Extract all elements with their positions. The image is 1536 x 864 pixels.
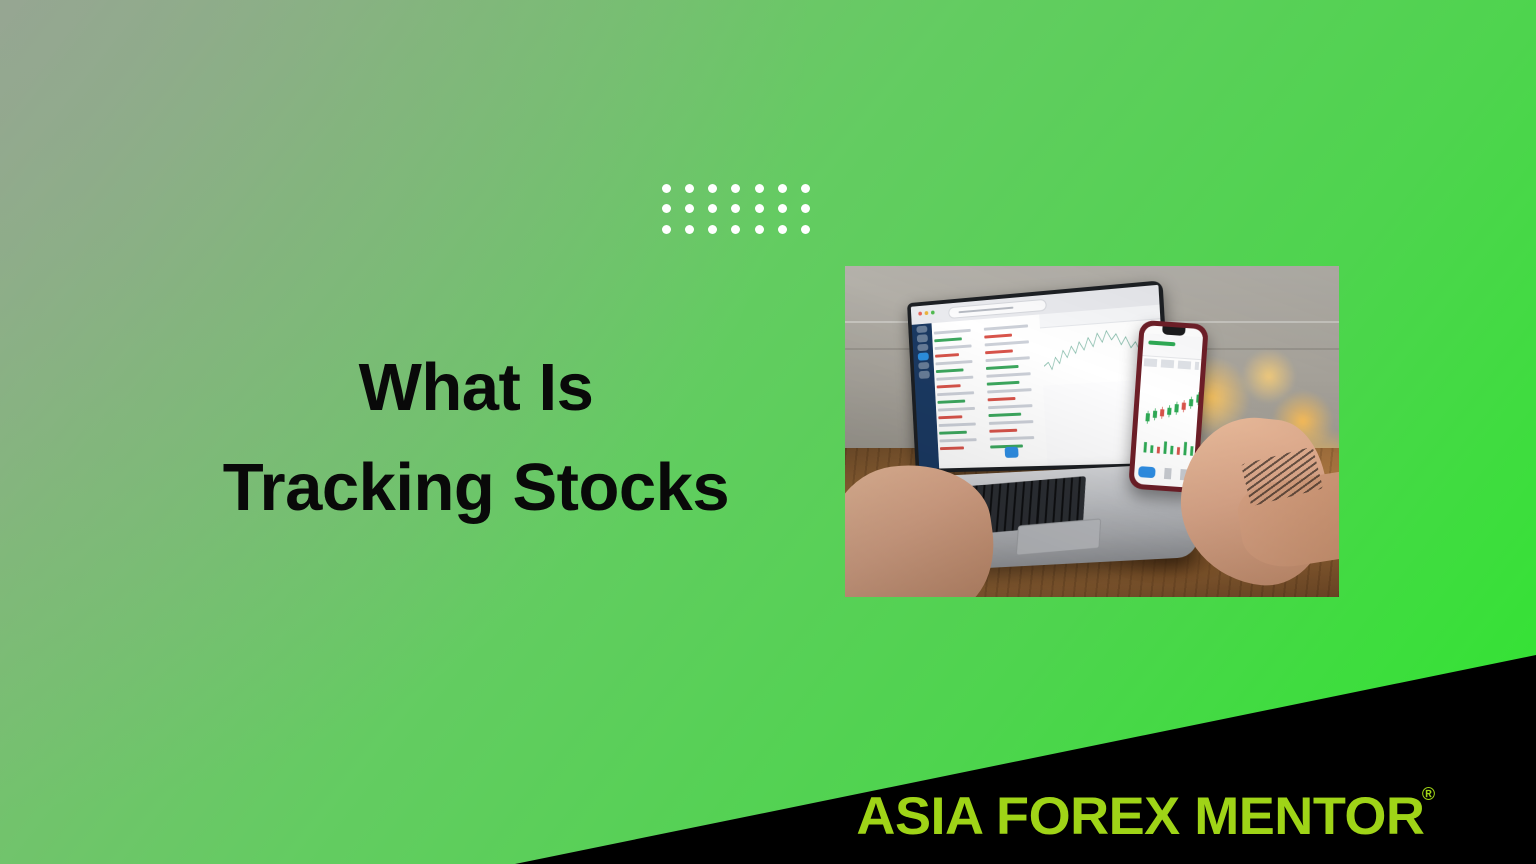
grid-dot	[662, 204, 671, 213]
grid-dot	[731, 225, 740, 234]
sidebar-icon	[917, 344, 928, 352]
photo-scene	[845, 266, 1339, 597]
watchlist-rows	[934, 328, 985, 455]
sidebar-icon	[917, 335, 928, 343]
sidebar-icon-active	[918, 353, 929, 361]
window-controls-icon	[918, 311, 934, 316]
brand-logo: ASIA FOREX MENTOR ®	[862, 783, 1522, 845]
grid-dot	[755, 184, 764, 193]
page-title: What Is Tracking Stocks	[120, 338, 832, 538]
phone-timeframe-tabs	[1144, 359, 1199, 371]
dot-grid-pattern	[655, 178, 817, 240]
phone-trade-button	[1137, 467, 1155, 479]
grid-dot	[708, 204, 717, 213]
grid-dot	[778, 225, 787, 234]
grid-dot	[685, 204, 694, 213]
grid-dot	[685, 225, 694, 234]
grid-dot	[662, 184, 671, 193]
laptop-trackpad	[1015, 519, 1100, 557]
phone-app-header	[1142, 333, 1203, 360]
title-line-2: Tracking Stocks	[120, 438, 832, 538]
brand-logo-text: ASIA FOREX MENTOR	[856, 789, 1424, 845]
order-book-rows	[984, 324, 1044, 454]
sidebar-icon	[918, 362, 929, 370]
grid-dot	[685, 184, 694, 193]
phone-price-label	[1148, 340, 1175, 347]
grid-dot	[801, 204, 810, 213]
grid-dot	[731, 184, 740, 193]
candlestick-chart	[1139, 370, 1204, 437]
grid-dot	[662, 225, 671, 234]
grid-dot	[801, 184, 810, 193]
grid-dot	[755, 225, 764, 234]
sidebar-icon	[916, 326, 927, 334]
title-line-1: What Is	[120, 338, 832, 438]
grid-dot	[778, 184, 787, 193]
grid-dot	[708, 184, 717, 193]
sidebar-icon	[919, 371, 930, 379]
slide-canvas: What Is Tracking Stocks	[0, 0, 1536, 864]
grid-dot	[755, 204, 764, 213]
grid-dot	[731, 204, 740, 213]
grid-dot	[801, 225, 810, 234]
grid-dot	[778, 204, 787, 213]
order-book-panel	[980, 315, 1048, 468]
hero-photo	[845, 266, 1339, 597]
submit-order-button	[1005, 447, 1019, 458]
grid-dot	[708, 225, 717, 234]
